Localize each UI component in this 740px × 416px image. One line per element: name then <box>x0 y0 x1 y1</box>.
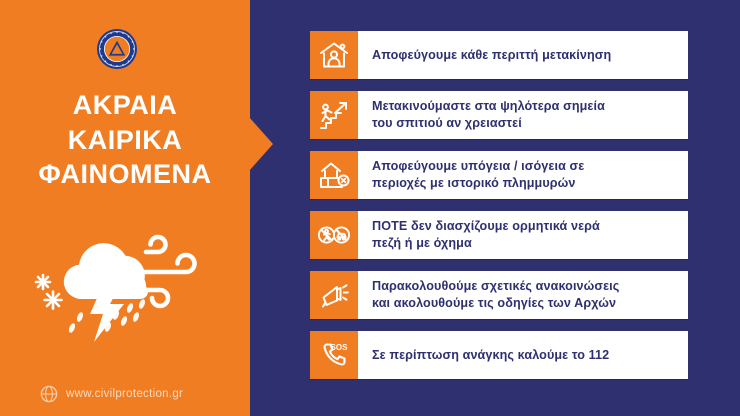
footer: www.civilprotection.gr <box>40 385 183 403</box>
list-item[interactable]: Αποφεύγουμε κάθε περιττή μετακίνηση <box>310 31 688 79</box>
civil-protection-seal-icon <box>96 28 138 70</box>
list-item-text: Αποφεύγουμε υπόγεια / ισόγεια σε περιοχέ… <box>358 151 688 199</box>
left-title-panel: ΑΚΡΑΙΑ ΚΑΙΡΙΚΑ ΦΑΙΝΟΜΕΝΑ <box>0 0 250 416</box>
no-pedestrian-no-vehicle-crossing-icon <box>310 211 358 259</box>
list-item-line-1: Αποφεύγουμε υπόγεια / ισόγεια σε <box>372 158 584 175</box>
infographic-root: ΑΚΡΑΙΑ ΚΑΙΡΙΚΑ ΦΑΙΝΟΜΕΝΑ <box>0 0 740 416</box>
person-climbing-stairs-arrow-up-icon <box>310 91 358 139</box>
list-item-line-2: του σπιτιού αν χρειαστεί <box>372 115 605 132</box>
list-item-line-2: και ακολουθούμε τις οδηγίες των Αρχών <box>372 295 619 312</box>
list-item-text: Σε περίπτωση ανάγκης καλούμε το 112 <box>358 331 688 379</box>
house-basement-no-entry-icon <box>310 151 358 199</box>
advice-list: Αποφεύγουμε κάθε περιττή μετακίνηση <box>310 31 688 379</box>
list-item-line-1: Μετακινούμαστε στα ψηλότερα σημεία <box>372 98 605 115</box>
svg-text:SOS: SOS <box>331 343 349 352</box>
storm-cloud-lightning-rain-snow-wind-icon <box>28 222 228 347</box>
list-item[interactable]: Μετακινούμαστε στα ψηλότερα σημεία του σ… <box>310 91 688 139</box>
globe-icon <box>40 385 58 403</box>
list-item-line-1: Παρακολουθούμε σχετικές ανακοινώσεις <box>372 278 619 295</box>
list-item-line-1: Αποφεύγουμε κάθε περιττή μετακίνηση <box>372 47 611 64</box>
arrow-pointer <box>249 117 273 171</box>
list-item-text: Μετακινούμαστε στα ψηλότερα σημεία του σ… <box>358 91 688 139</box>
list-item-line-1: ΠΟΤΕ δεν διασχίζουμε ορμητικά νερά <box>372 218 600 235</box>
list-item[interactable]: Παρακολουθούμε σχετικές ανακοινώσεις και… <box>310 271 688 319</box>
list-item-line-2: περιοχές με ιστορικό πλημμυρών <box>372 175 584 192</box>
house-person-icon <box>310 31 358 79</box>
list-item[interactable]: SOS Σε περίπτωση ανάγκης καλούμε το 112 <box>310 331 688 379</box>
page-title: ΑΚΡΑΙΑ ΚΑΙΡΙΚΑ ΦΑΙΝΟΜΕΝΑ <box>0 88 250 192</box>
list-item-line-1: Σε περίπτωση ανάγκης καλούμε το 112 <box>372 347 609 364</box>
list-item-line-2: πεζή ή με όχημα <box>372 235 600 252</box>
megaphone-icon <box>310 271 358 319</box>
list-item-text: Αποφεύγουμε κάθε περιττή μετακίνηση <box>358 31 688 79</box>
phone-sos-icon: SOS <box>310 331 358 379</box>
list-item[interactable]: ΠΟΤΕ δεν διασχίζουμε ορμητικά νερά πεζή … <box>310 211 688 259</box>
website-url[interactable]: www.civilprotection.gr <box>66 388 183 400</box>
title-line-2: ΚΑΙΡΙΚΑ <box>0 123 250 158</box>
title-line-3: ΦΑΙΝΟΜΕΝΑ <box>0 157 250 192</box>
list-item[interactable]: Αποφεύγουμε υπόγεια / ισόγεια σε περιοχέ… <box>310 151 688 199</box>
title-line-1: ΑΚΡΑΙΑ <box>0 88 250 123</box>
list-item-text: Παρακολουθούμε σχετικές ανακοινώσεις και… <box>358 271 688 319</box>
list-item-text: ΠΟΤΕ δεν διασχίζουμε ορμητικά νερά πεζή … <box>358 211 688 259</box>
